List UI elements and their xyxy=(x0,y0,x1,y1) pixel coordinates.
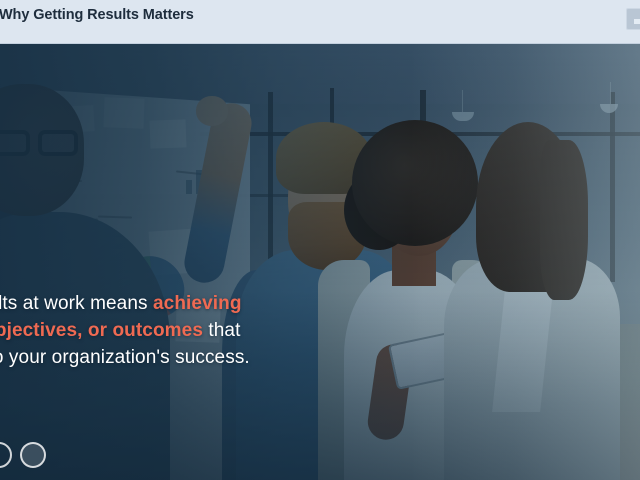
page-title: Briefs® Why Getting Results Matters xyxy=(0,5,194,23)
photo-right-highlight xyxy=(410,44,640,480)
hero-text-plain: ng results at work means xyxy=(0,293,153,314)
hero-headline-line-3: ribute to your organization's success. xyxy=(0,344,354,371)
hero-headline: ng results at work means achieving oals,… xyxy=(0,290,354,371)
window-control-button[interactable] xyxy=(626,8,640,30)
page-title-rest: Why Getting Results Matters xyxy=(0,7,194,23)
page-header: Briefs® Why Getting Results Matters ion xyxy=(0,0,640,44)
hero-banner: ng results at work means achieving oals,… xyxy=(0,44,640,480)
hero-text-accent: oals, objectives, or outcomes xyxy=(0,320,203,341)
page-root: Briefs® Why Getting Results Matters ion xyxy=(0,0,640,480)
hero-headline-line-2: oals, objectives, or outcomes that xyxy=(0,317,354,344)
hero-text-accent: achieving xyxy=(153,293,242,314)
hero-photograph xyxy=(0,44,640,480)
hero-headline-line-1: ng results at work means achieving xyxy=(0,290,354,317)
carousel-dot-1[interactable] xyxy=(0,442,12,468)
hero-text-plain: ribute to your organization's success. xyxy=(0,347,250,368)
carousel-dot-2[interactable] xyxy=(20,442,46,468)
carousel-pagination xyxy=(0,442,46,468)
hero-text-plain: that xyxy=(203,320,240,341)
